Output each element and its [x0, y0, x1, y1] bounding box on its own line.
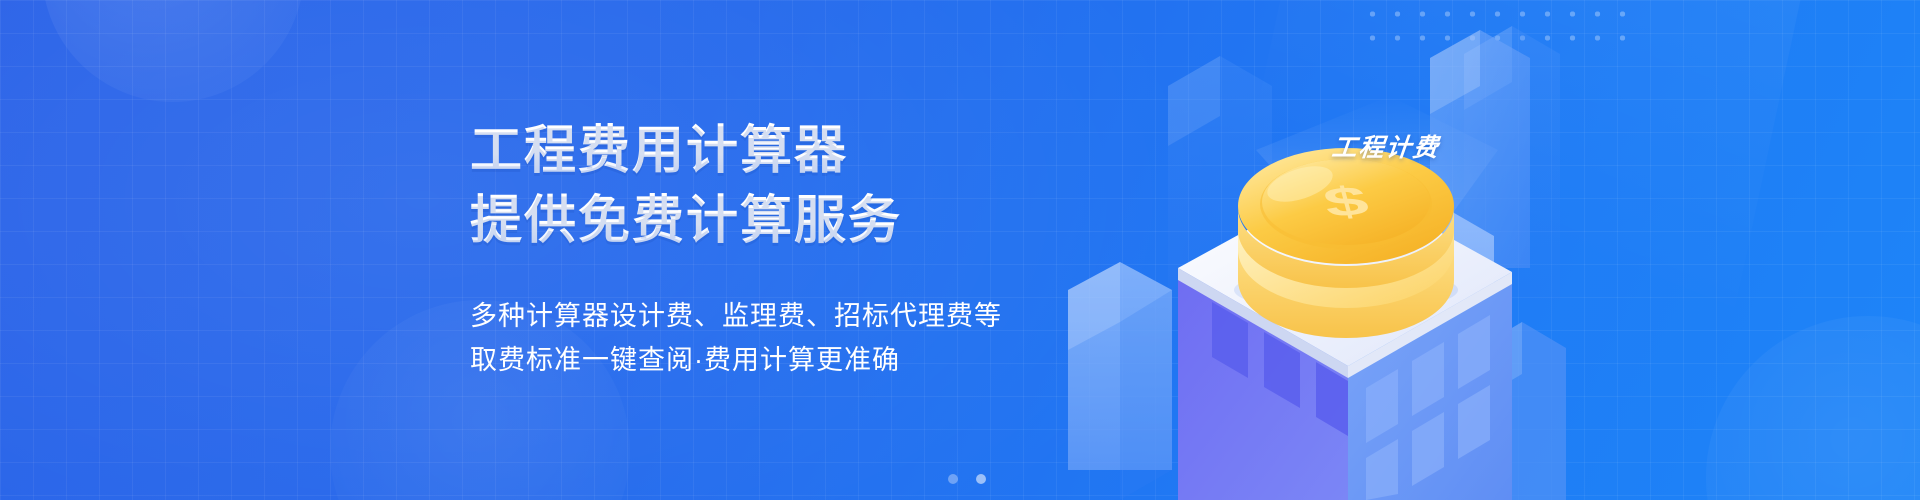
carousel-pagination[interactable]	[0, 474, 1920, 484]
isometric-illustration: $ 工程计费	[1060, 0, 1680, 500]
carousel-dot-1[interactable]	[948, 474, 958, 484]
carousel-dot-2[interactable]	[976, 474, 986, 484]
decor-circle-bottom-right	[1706, 316, 1920, 500]
promo-banner: 工程费用计算器 提供免费计算服务 多种计算器设计费、监理费、招标代理费等 取费标…	[0, 0, 1920, 500]
small-left-block	[1068, 262, 1172, 500]
coin-stack: $	[1234, 148, 1458, 338]
decor-circle-top-left	[42, 0, 304, 102]
illustration-svg: $	[1060, 0, 1680, 500]
illustration-badge-label: 工程计费	[1330, 128, 1442, 164]
